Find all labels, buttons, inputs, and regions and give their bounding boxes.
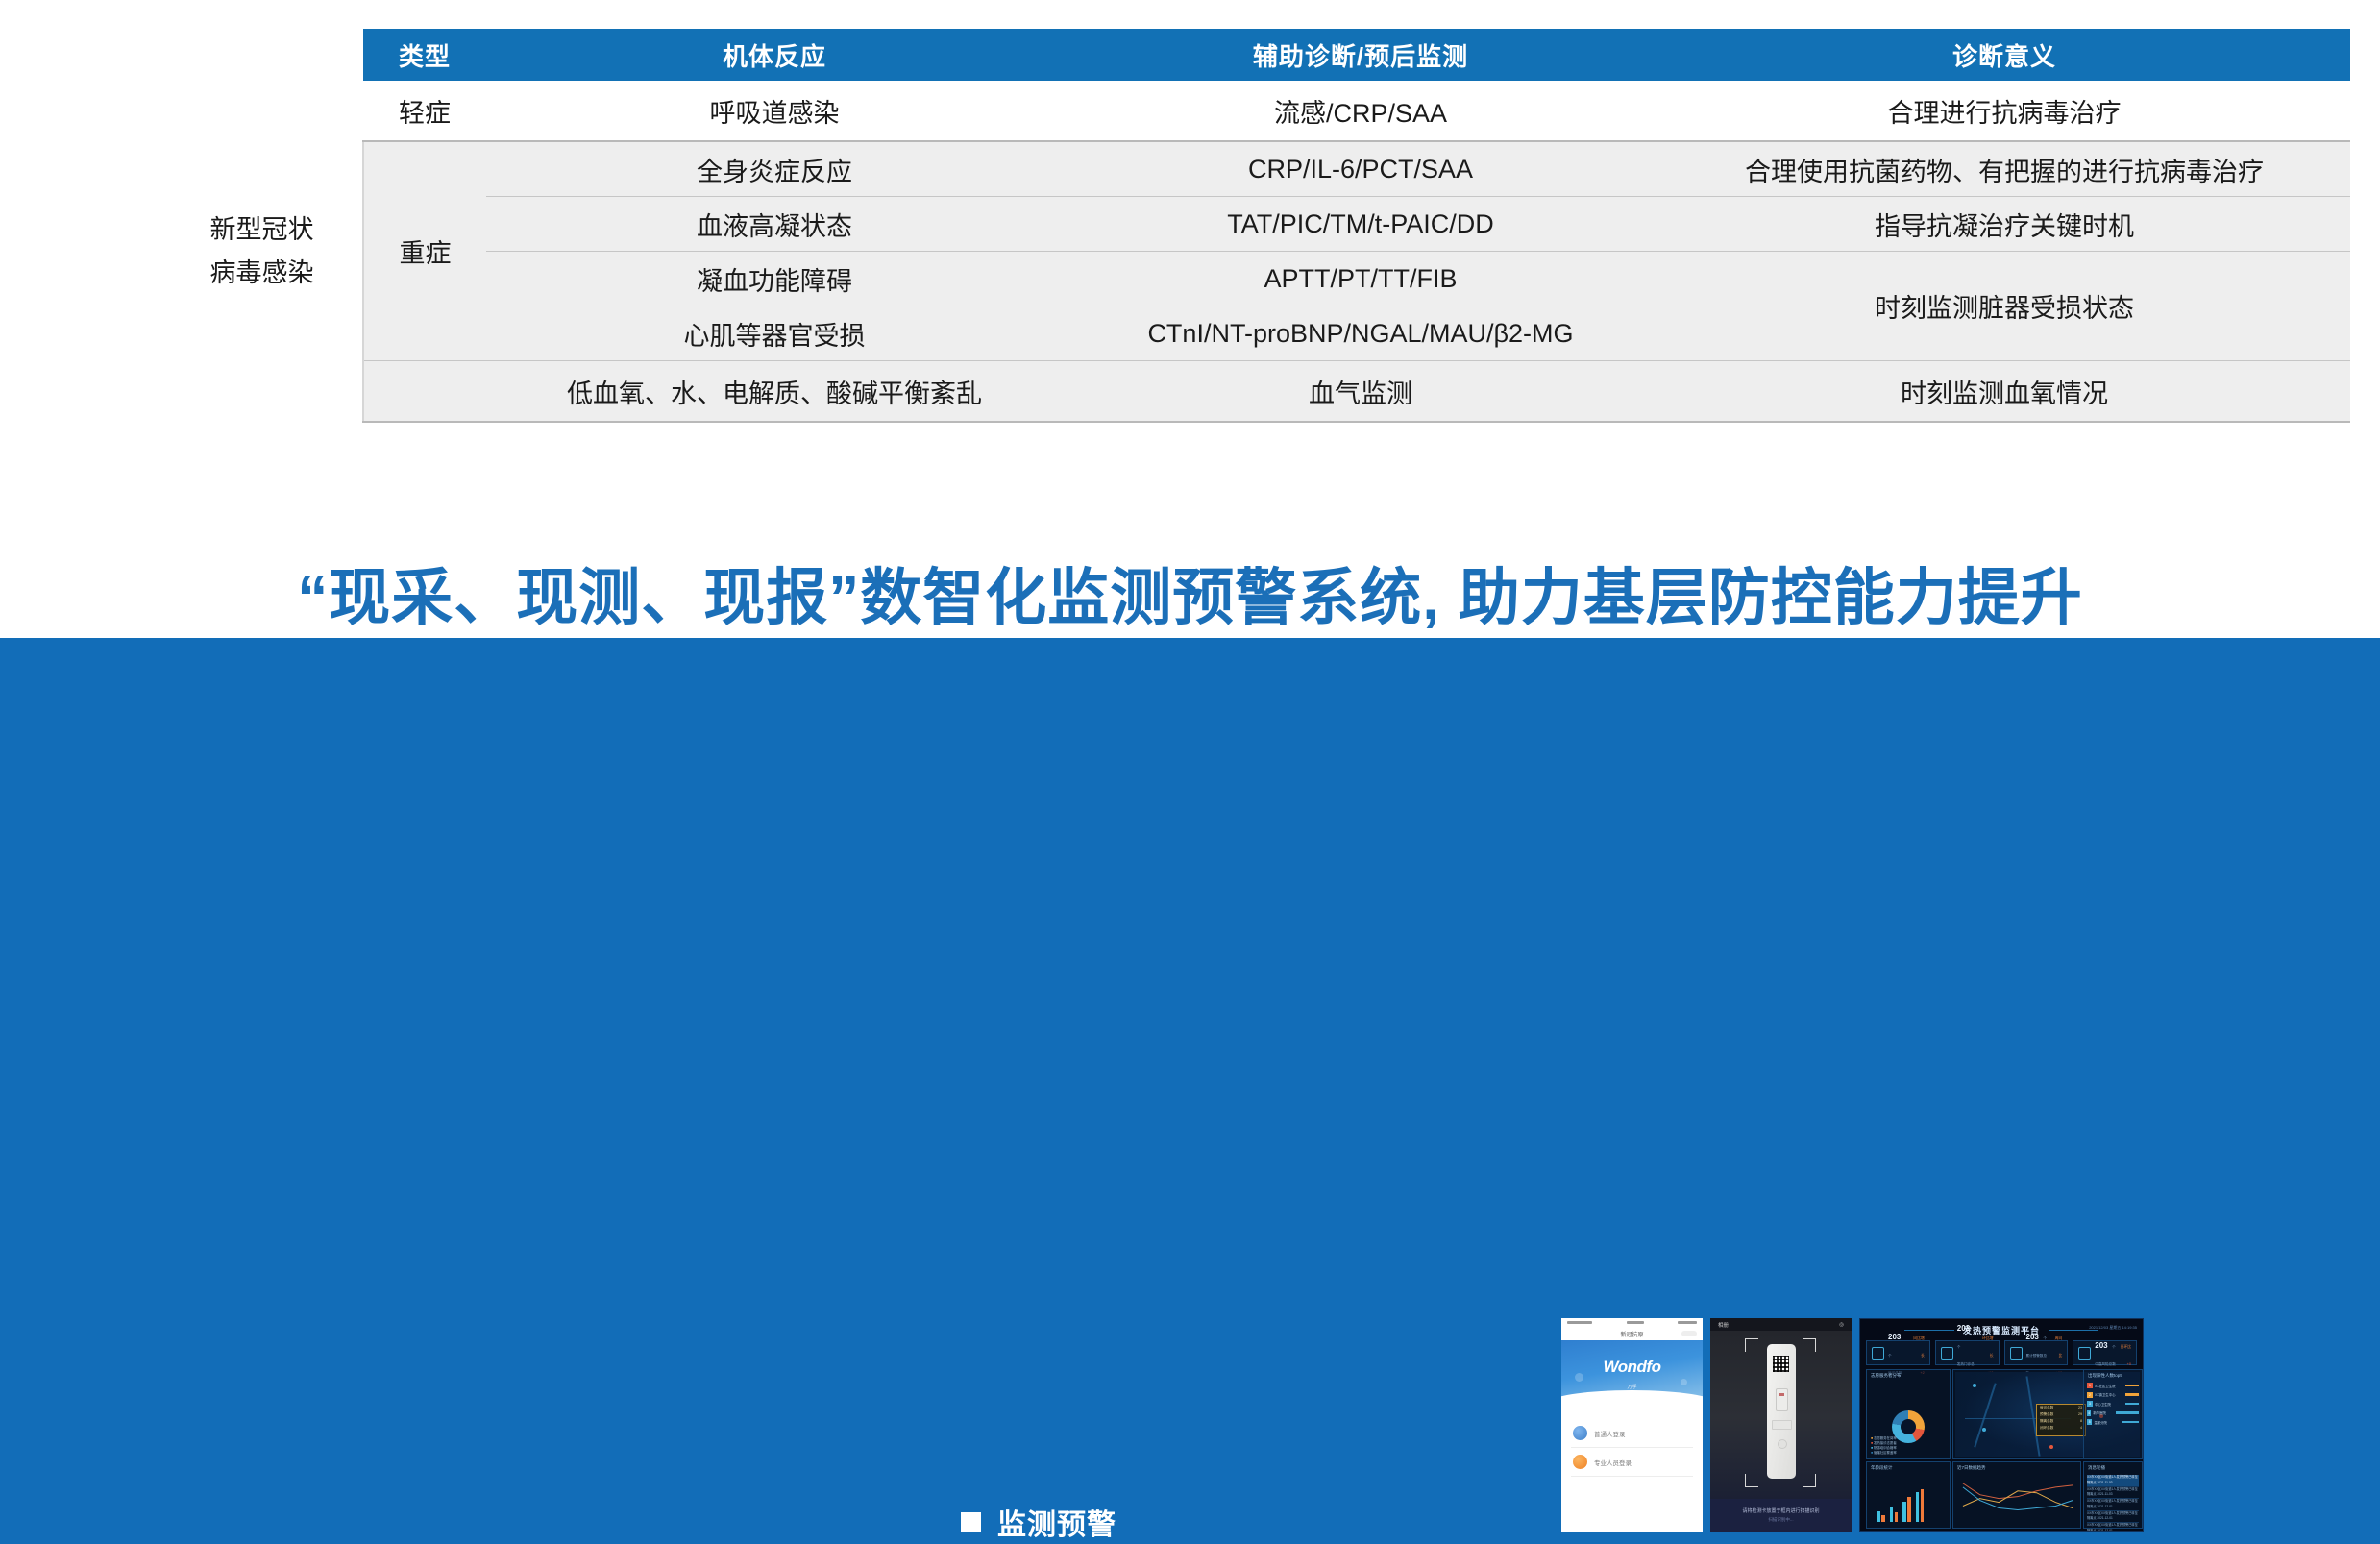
- rank-bar: [2125, 1403, 2139, 1406]
- camera-hint-line2: 扫描识别中...: [1768, 1517, 1793, 1523]
- cell-diagnosis: CTnI/NT-proBNP/NGAL/MAU/β2-MG: [1063, 306, 1658, 361]
- rank-row: 5温都分院: [2087, 1419, 2139, 1425]
- cell-meaning: 指导抗凝治疗关键时机: [1658, 197, 2350, 252]
- table-header-row: 类型 机体反应 辅助诊断/预后监测 诊断意义: [161, 29, 2350, 81]
- cassette-qr-icon: [1773, 1356, 1789, 1372]
- cell-diagnosis: 血气监测: [1063, 361, 1658, 423]
- bigscreen-dashboard-screenshot: 发热预警监测平台 2021/12/03 星期五 14:19:35 203 个 就…: [1859, 1318, 2144, 1532]
- comparison-table-section: 类型 机体反应 辅助诊断/预后监测 诊断意义 新型冠状 病毒感染 轻症 呼吸道感…: [0, 0, 2380, 452]
- table-header-type: 类型: [363, 29, 486, 81]
- test-cassette-image: [1767, 1344, 1796, 1479]
- table-row: 重症 全身炎症反应 CRP/IL-6/PCT/SAA 合理使用抗菌药物、有把握的…: [161, 141, 2350, 197]
- screenshot-gallery: 新冠抗原 Wondfo 万孚 普通人登录 专业人员登录: [1561, 1318, 2144, 1532]
- cell-diagnosis: TAT/PIC/TM/t-PAIC/DD: [1063, 197, 1658, 252]
- kpi-unit: 个: [2043, 1336, 2047, 1340]
- news-row: XX市XX区XX街道1人发热预警已转至隔离点 2021-11-03: [2087, 1475, 2139, 1487]
- table-row: 新型冠状 病毒感染 轻症 呼吸道感染 流感/CRP/SAA 合理进行抗病毒治疗: [161, 81, 2350, 141]
- rank-name: 温都分院: [2094, 1420, 2120, 1425]
- cell-meaning-organ: 时刻监测脏器受损状态: [1658, 252, 2350, 361]
- row-group-label: 新型冠状 病毒感染: [161, 81, 363, 422]
- kpi-label: 中高风险总数: [2095, 1362, 2116, 1366]
- donut-legend: 志愿服务在岗率 发热接诊志愿者 院感培训合格率 管辖社区覆盖率: [1871, 1436, 1897, 1456]
- cell-response: 心肌等器官受损: [486, 306, 1063, 361]
- kpi-trend-label: 环比增长: [1982, 1336, 1993, 1358]
- grid-icon: [1941, 1347, 1953, 1360]
- wondfo-logo: Wondfo: [1604, 1358, 1661, 1377]
- panel-title: 出现阳性人数top5: [2084, 1370, 2142, 1379]
- panel-title: 近7日数据趋势: [1953, 1462, 2080, 1471]
- square-bullet-icon: [961, 1512, 981, 1532]
- feature-heading: 监测预警: [961, 1501, 1211, 1543]
- person-icon: [1573, 1426, 1587, 1440]
- kpi-value: 203: [2026, 1333, 2039, 1341]
- donut-chart: [1892, 1410, 1925, 1443]
- cell-severity-mild: 轻症: [363, 81, 486, 141]
- rank-name: 新华医院: [2093, 1410, 2114, 1415]
- rank-name: 中心卫生院: [2095, 1402, 2123, 1407]
- phone-nav-title: 新冠抗原: [1620, 1330, 1643, 1338]
- rank-list: 1XX社区卫生院 2XX镇卫生中心 3中心卫生院 4新华医院 5温都分院: [2087, 1383, 2139, 1429]
- cell-diagnosis: 流感/CRP/SAA: [1063, 81, 1658, 141]
- rank-row: 2XX镇卫生中心: [2087, 1392, 2139, 1398]
- kpi-trend-label: 日环比: [2121, 1345, 2131, 1349]
- cassette-label: [1772, 1420, 1792, 1430]
- kpi-trend-label: 周同比: [2055, 1336, 2063, 1358]
- map-tooltip: 就诊总数23 预警总数29 隔离总数8 闭环总数4: [2036, 1404, 2086, 1436]
- camera-scan-screenshot: 相册 ◎ 请将检测卡放置于框内进行扫描识别 扫描识: [1710, 1318, 1852, 1532]
- camera-top-bar: 相册 ◎: [1710, 1318, 1852, 1331]
- rank-name: XX镇卫生中心: [2095, 1392, 2123, 1397]
- table-header-meaning: 诊断意义: [1658, 29, 2350, 81]
- table-row: 凝血功能障碍 APTT/PT/TT/FIB 时刻监测脏器受损状态: [161, 252, 2350, 306]
- badge-icon: [1573, 1455, 1587, 1469]
- bar-group: [1877, 1511, 1885, 1522]
- dashboard-kpi-row: 203 个 就诊总数 同比增长 +2 203 个 发热门诊总数 环比增长 +10: [1866, 1340, 2137, 1365]
- kpi-unit: 个: [1888, 1354, 1892, 1358]
- kpi-unit: 个: [1957, 1345, 1961, 1349]
- kpi-card: 203 个 累计预警数总数 周同比 +10: [2004, 1340, 2069, 1365]
- dashboard-rank-panel: 出现阳性人数top5 1XX社区卫生院 2XX镇卫生中心 3中心卫生院 4新华医…: [2083, 1369, 2143, 1459]
- cell-diagnosis: CRP/IL-6/PCT/SAA: [1063, 141, 1658, 197]
- tooltip-key: 隔离总数: [2040, 1419, 2053, 1424]
- panel-title: 年龄段统计: [1867, 1462, 1950, 1471]
- news-row: XX市XX区XX街道1人发热预警已转至隔离点 2021-11-03: [2087, 1487, 2139, 1500]
- tooltip-key: 预警总数: [2040, 1412, 2053, 1417]
- cell-response: 凝血功能障碍: [486, 252, 1063, 306]
- legend-item: 管辖社区覆盖率: [1871, 1451, 1897, 1456]
- rank-bar: [2125, 1385, 2139, 1387]
- sample-well: [1778, 1439, 1787, 1449]
- bar-group: [1902, 1497, 1911, 1522]
- panel-title: 消息轮播: [2084, 1462, 2142, 1471]
- rank-bar: [2125, 1393, 2139, 1396]
- camera-settings-icon[interactable]: ◎: [1839, 1322, 1844, 1328]
- row-group-line-1: 新型冠状: [167, 208, 356, 252]
- row-group-line-2: 病毒感染: [167, 252, 356, 295]
- tooltip-value: 4: [2080, 1426, 2082, 1431]
- dashboard-agebar-panel: 年龄段统计: [1866, 1461, 1951, 1529]
- page-title: “现采、现测、现报”数智化监测预警系统, 助力基层防控能力提升: [0, 549, 2380, 637]
- cell-response: 全身炎症反应: [486, 141, 1063, 197]
- table-header-diagnosis: 辅助诊断/预后监测: [1063, 29, 1658, 81]
- rank-name: XX社区卫生院: [2095, 1384, 2123, 1388]
- tooltip-key: 就诊总数: [2040, 1406, 2053, 1410]
- kpi-trend-label: 同比增长: [1913, 1336, 1924, 1358]
- album-label[interactable]: 相册: [1718, 1321, 1729, 1329]
- feature-title: 监测预警: [997, 1501, 1116, 1543]
- kpi-trend-value: +0: [2127, 1362, 2131, 1366]
- legend-item: 志愿服务在岗率: [1871, 1436, 1897, 1441]
- dashboard-timestamp: 2021/12/03 星期五 14:19:35: [2089, 1325, 2137, 1331]
- document-icon: [2010, 1347, 2023, 1360]
- clipboard-icon: [1872, 1347, 1884, 1360]
- cell-diagnosis: APTT/PT/TT/FIB: [1063, 252, 1658, 306]
- tooltip-value: 8: [2080, 1419, 2082, 1424]
- news-row: XX市XX区XX街道1人发热预警已转至隔离点 2021-12-01: [2087, 1499, 2139, 1511]
- kpi-value: 203: [1957, 1324, 1970, 1333]
- phone-status-bar: [1561, 1318, 1703, 1327]
- panel-title: 志愿服务者分布: [1867, 1370, 1950, 1379]
- kpi-value: 203: [1888, 1333, 1901, 1341]
- heart-icon: [2078, 1347, 2091, 1360]
- kpi-unit: 个: [2112, 1345, 2116, 1349]
- camera-hint-bar: 请将检测卡放置于框内进行扫描识别 扫描识别中...: [1710, 1499, 1852, 1532]
- system-overview-panel: 万孚新冠抗原快速检测: [0, 638, 2380, 1544]
- kpi-card: 203 个 中高风险总数 日环比 +0: [2073, 1340, 2137, 1365]
- divider: [1571, 1476, 1693, 1477]
- kpi-card: 203 个 就诊总数 同比增长 +2: [1866, 1340, 1930, 1365]
- tooltip-value: 23: [2078, 1406, 2082, 1410]
- tooltip-value: 29: [2078, 1412, 2082, 1417]
- cell-severity-blank: [363, 361, 486, 423]
- login-option-label: 普通人登录: [1594, 1429, 1626, 1438]
- decor-bubble: [1681, 1379, 1687, 1385]
- dashboard-trend-panel: 近7日数据趋势: [1952, 1461, 2081, 1529]
- table-row: 低血氧、水、电解质、酸碱平衡紊乱 血气监测 时刻监测血氧情况: [161, 361, 2350, 423]
- miniprogram-login-screenshot: 新冠抗原 Wondfo 万孚 普通人登录 专业人员登录: [1561, 1318, 1703, 1532]
- feature-block-monitor: 监测预警 实时监测检验结果 出现阳性立即预警提醒 微信通知医务人员: [961, 1501, 1211, 1544]
- line-chart: [1959, 1478, 2076, 1517]
- bar-chart: [1877, 1485, 1946, 1522]
- cell-response: 血液高凝状态: [486, 197, 1063, 252]
- cell-meaning: 合理使用抗菌药物、有把握的进行抗病毒治疗: [1658, 141, 2350, 197]
- camera-viewfinder: [1710, 1331, 1852, 1499]
- table-header-response: 机体反应: [486, 29, 1063, 81]
- rank-row: 4新华医院: [2087, 1410, 2139, 1416]
- rank-bar: [2122, 1421, 2139, 1424]
- rank-row: 3中心卫生院: [2087, 1401, 2139, 1407]
- table-header-blank: [161, 29, 363, 81]
- news-list: XX市XX区XX街道1人发热预警已转至隔离点 2021-11-03 XX市XX区…: [2087, 1475, 2139, 1532]
- dashboard-news-panel: 消息轮播 XX市XX区XX街道1人发热预警已转至隔离点 2021-11-03 X…: [2083, 1461, 2143, 1529]
- kpi-value: 203: [2095, 1341, 2107, 1350]
- phone-capsule-icon: [1681, 1331, 1697, 1336]
- kpi-card: 203 个 发热门诊总数 环比增长 +10: [1935, 1340, 2000, 1365]
- bar-group: [1916, 1489, 1925, 1522]
- result-window: [1776, 1388, 1788, 1411]
- login-option-row[interactable]: 专业人员登录: [1561, 1448, 1703, 1476]
- cell-response: 呼吸道感染: [486, 81, 1063, 141]
- bar-group: [1890, 1507, 1899, 1522]
- login-option-label: 专业人员登录: [1594, 1458, 1632, 1467]
- camera-hint-line1: 请将检测卡放置于框内进行扫描识别: [1742, 1507, 1819, 1514]
- tooltip-key: 闭环总数: [2040, 1426, 2053, 1431]
- cell-meaning: 合理进行抗病毒治疗: [1658, 81, 2350, 141]
- covid-indicator-table: 类型 机体反应 辅助诊断/预后监测 诊断意义 新型冠状 病毒感染 轻症 呼吸道感…: [161, 29, 2350, 423]
- decor-bubble: [1575, 1373, 1583, 1382]
- table-row: 血液高凝状态 TAT/PIC/TM/t-PAIC/DD 指导抗凝治疗关键时机: [161, 197, 2350, 252]
- news-row: XX市XX区XX街道1人发热预警已转至隔离点 2021-12-01: [2087, 1523, 2139, 1532]
- cell-severity-severe: 重症: [363, 141, 486, 361]
- rank-row: 1XX社区卫生院: [2087, 1383, 2139, 1388]
- rank-bar: [2116, 1411, 2139, 1414]
- dashboard-donut-panel: 志愿服务者分布 志愿服务在岗率 发热接诊志愿者 院感培训合格率 管辖社区覆盖率: [1866, 1369, 1951, 1459]
- cell-response: 低血氧、水、电解质、酸碱平衡紊乱: [486, 361, 1063, 423]
- phone-nav-bar: 新冠抗原: [1561, 1327, 1703, 1340]
- news-row: XX市XX区XX街道1人发热预警已转至隔离点 2021-12-01: [2087, 1511, 2139, 1524]
- cell-meaning: 时刻监测血氧情况: [1658, 361, 2350, 423]
- login-option-row[interactable]: 普通人登录: [1561, 1419, 1703, 1447]
- brand-hero-banner: Wondfo 万孚: [1561, 1340, 1703, 1404]
- wondfo-logo-sub: 万孚: [1627, 1384, 1636, 1390]
